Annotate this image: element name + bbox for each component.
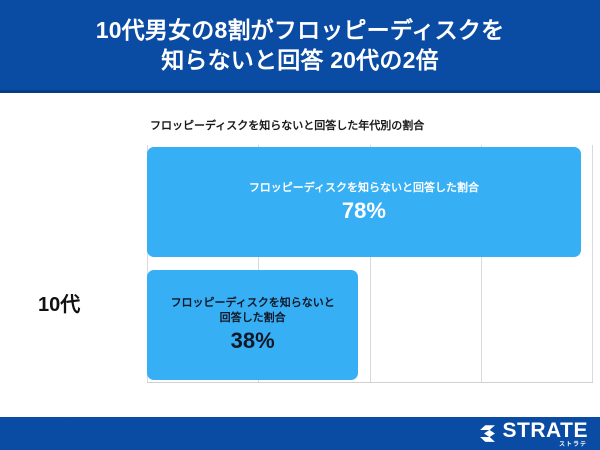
strate-logo[interactable]: STRATE ストラテ bbox=[477, 420, 588, 448]
strate-logo-text: STRATE bbox=[503, 420, 588, 441]
strate-logo-mark-icon bbox=[477, 423, 498, 444]
bar-series-label-10dai: フロッピーディスクを知らないと回答した割合 bbox=[249, 181, 479, 196]
y-axis-category-10dai: 10代 bbox=[38, 288, 138, 317]
header-banner: 10代男女の8割がフロッピーディスクを 知らないと回答 20代の2倍 bbox=[0, 0, 600, 93]
chart-container: フロッピーディスクを知らないと回答した年代別の割合 10代 20代 フロッピーデ… bbox=[0, 93, 600, 417]
bar-value-10dai: 78% bbox=[342, 197, 386, 224]
header-title-line-1: 10代男女の8割がフロッピーディスクを bbox=[96, 15, 505, 45]
header-title-line-2: 知らないと回答 20代の2倍 bbox=[161, 45, 439, 75]
strate-logo-subtext: ストラテ bbox=[559, 442, 587, 448]
strate-logo-text-block: STRATE ストラテ bbox=[503, 420, 588, 448]
gridline-80 bbox=[592, 145, 593, 382]
plot-area: フロッピーディスクを知らないと回答した割合 78% フロッピーディスクを知らない… bbox=[147, 145, 592, 382]
x-axis-line bbox=[147, 382, 593, 383]
bar-value-20dai: 38% bbox=[231, 327, 275, 354]
bar-series-label-20dai: フロッピーディスクを知らないと 回答した割合 bbox=[171, 296, 335, 326]
bar-20dai[interactable]: フロッピーディスクを知らないと 回答した割合 38% bbox=[147, 270, 358, 380]
footer-bar: STRATE ストラテ bbox=[0, 417, 600, 450]
bar-10dai[interactable]: フロッピーディスクを知らないと回答した割合 78% bbox=[147, 147, 581, 257]
chart-title: フロッピーディスクを知らないと回答した年代別の割合 bbox=[150, 117, 424, 133]
